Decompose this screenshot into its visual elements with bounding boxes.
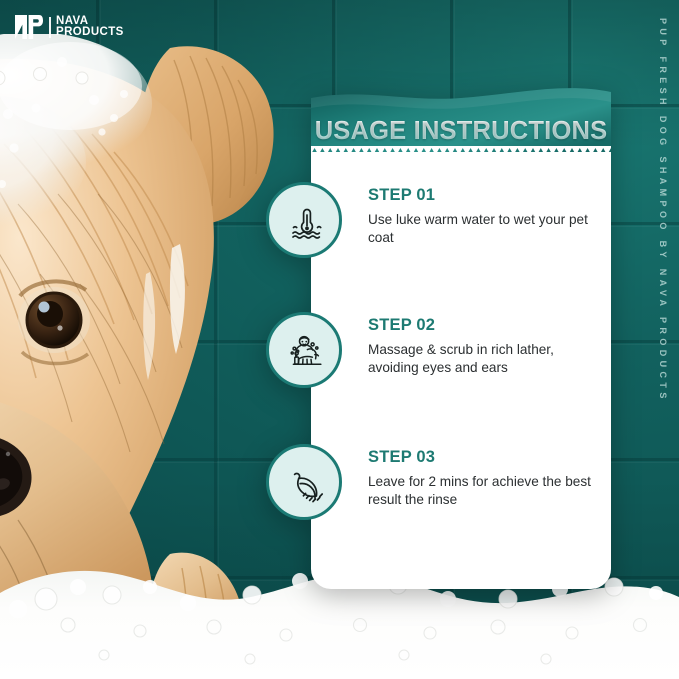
step-1-icon-circle <box>266 182 342 258</box>
step-1-label: STEP 01 <box>368 186 604 205</box>
card-header: USAGE INSTRUCTIONS <box>311 86 611 152</box>
step-3-description: Leave for 2 mins for achieve the best re… <box>368 473 604 510</box>
card-body: STEP 01 Use luke warm water to wet your … <box>311 152 611 589</box>
step-item-3: STEP 03 Leave for 2 mins for achieve the… <box>311 444 611 540</box>
step-item-2: STEP 02 Massage & scrub in rich lather, … <box>311 312 611 408</box>
side-caption-text: PUP FRESH DOG SHAMPOO BY NAVA PRODUCTS <box>658 18 668 403</box>
step-2-description: Massage & scrub in rich lather, avoiding… <box>368 341 604 378</box>
step-item-1: STEP 01 Use luke warm water to wet your … <box>311 182 611 278</box>
brand-logo: NAVA PRODUCTS <box>14 14 124 40</box>
side-caption: PUP FRESH DOG SHAMPOO BY NAVA PRODUCTS <box>649 18 675 418</box>
usage-instructions-card: USAGE INSTRUCTIONS <box>311 86 611 589</box>
step-3-label: STEP 03 <box>368 448 604 467</box>
step-1-text: STEP 01 Use luke warm water to wet your … <box>368 186 604 248</box>
thermometer-water-icon <box>269 185 345 261</box>
step-2-icon-circle <box>266 312 342 388</box>
step-3-text: STEP 03 Leave for 2 mins for achieve the… <box>368 448 604 510</box>
poster-canvas: NAVA PRODUCTS PUP FRESH DOG SHAMPOO BY N… <box>0 0 679 679</box>
shower-head-icon <box>269 447 345 523</box>
step-2-text: STEP 02 Massage & scrub in rich lather, … <box>368 316 604 378</box>
person-washing-dog-icon <box>269 315 345 391</box>
logo-divider <box>49 17 51 38</box>
step-3-icon-circle <box>266 444 342 520</box>
step-2-label: STEP 02 <box>368 316 604 335</box>
step-1-description: Use luke warm water to wet your pet coat <box>368 211 604 248</box>
np-monogram-icon <box>14 14 44 40</box>
logo-name-line2: PRODUCTS <box>56 27 124 39</box>
card-title-text: USAGE INSTRUCTIONS <box>315 117 608 146</box>
card-title: USAGE INSTRUCTIONS <box>311 86 611 152</box>
logo-wordmark: NAVA PRODUCTS <box>56 16 124 39</box>
